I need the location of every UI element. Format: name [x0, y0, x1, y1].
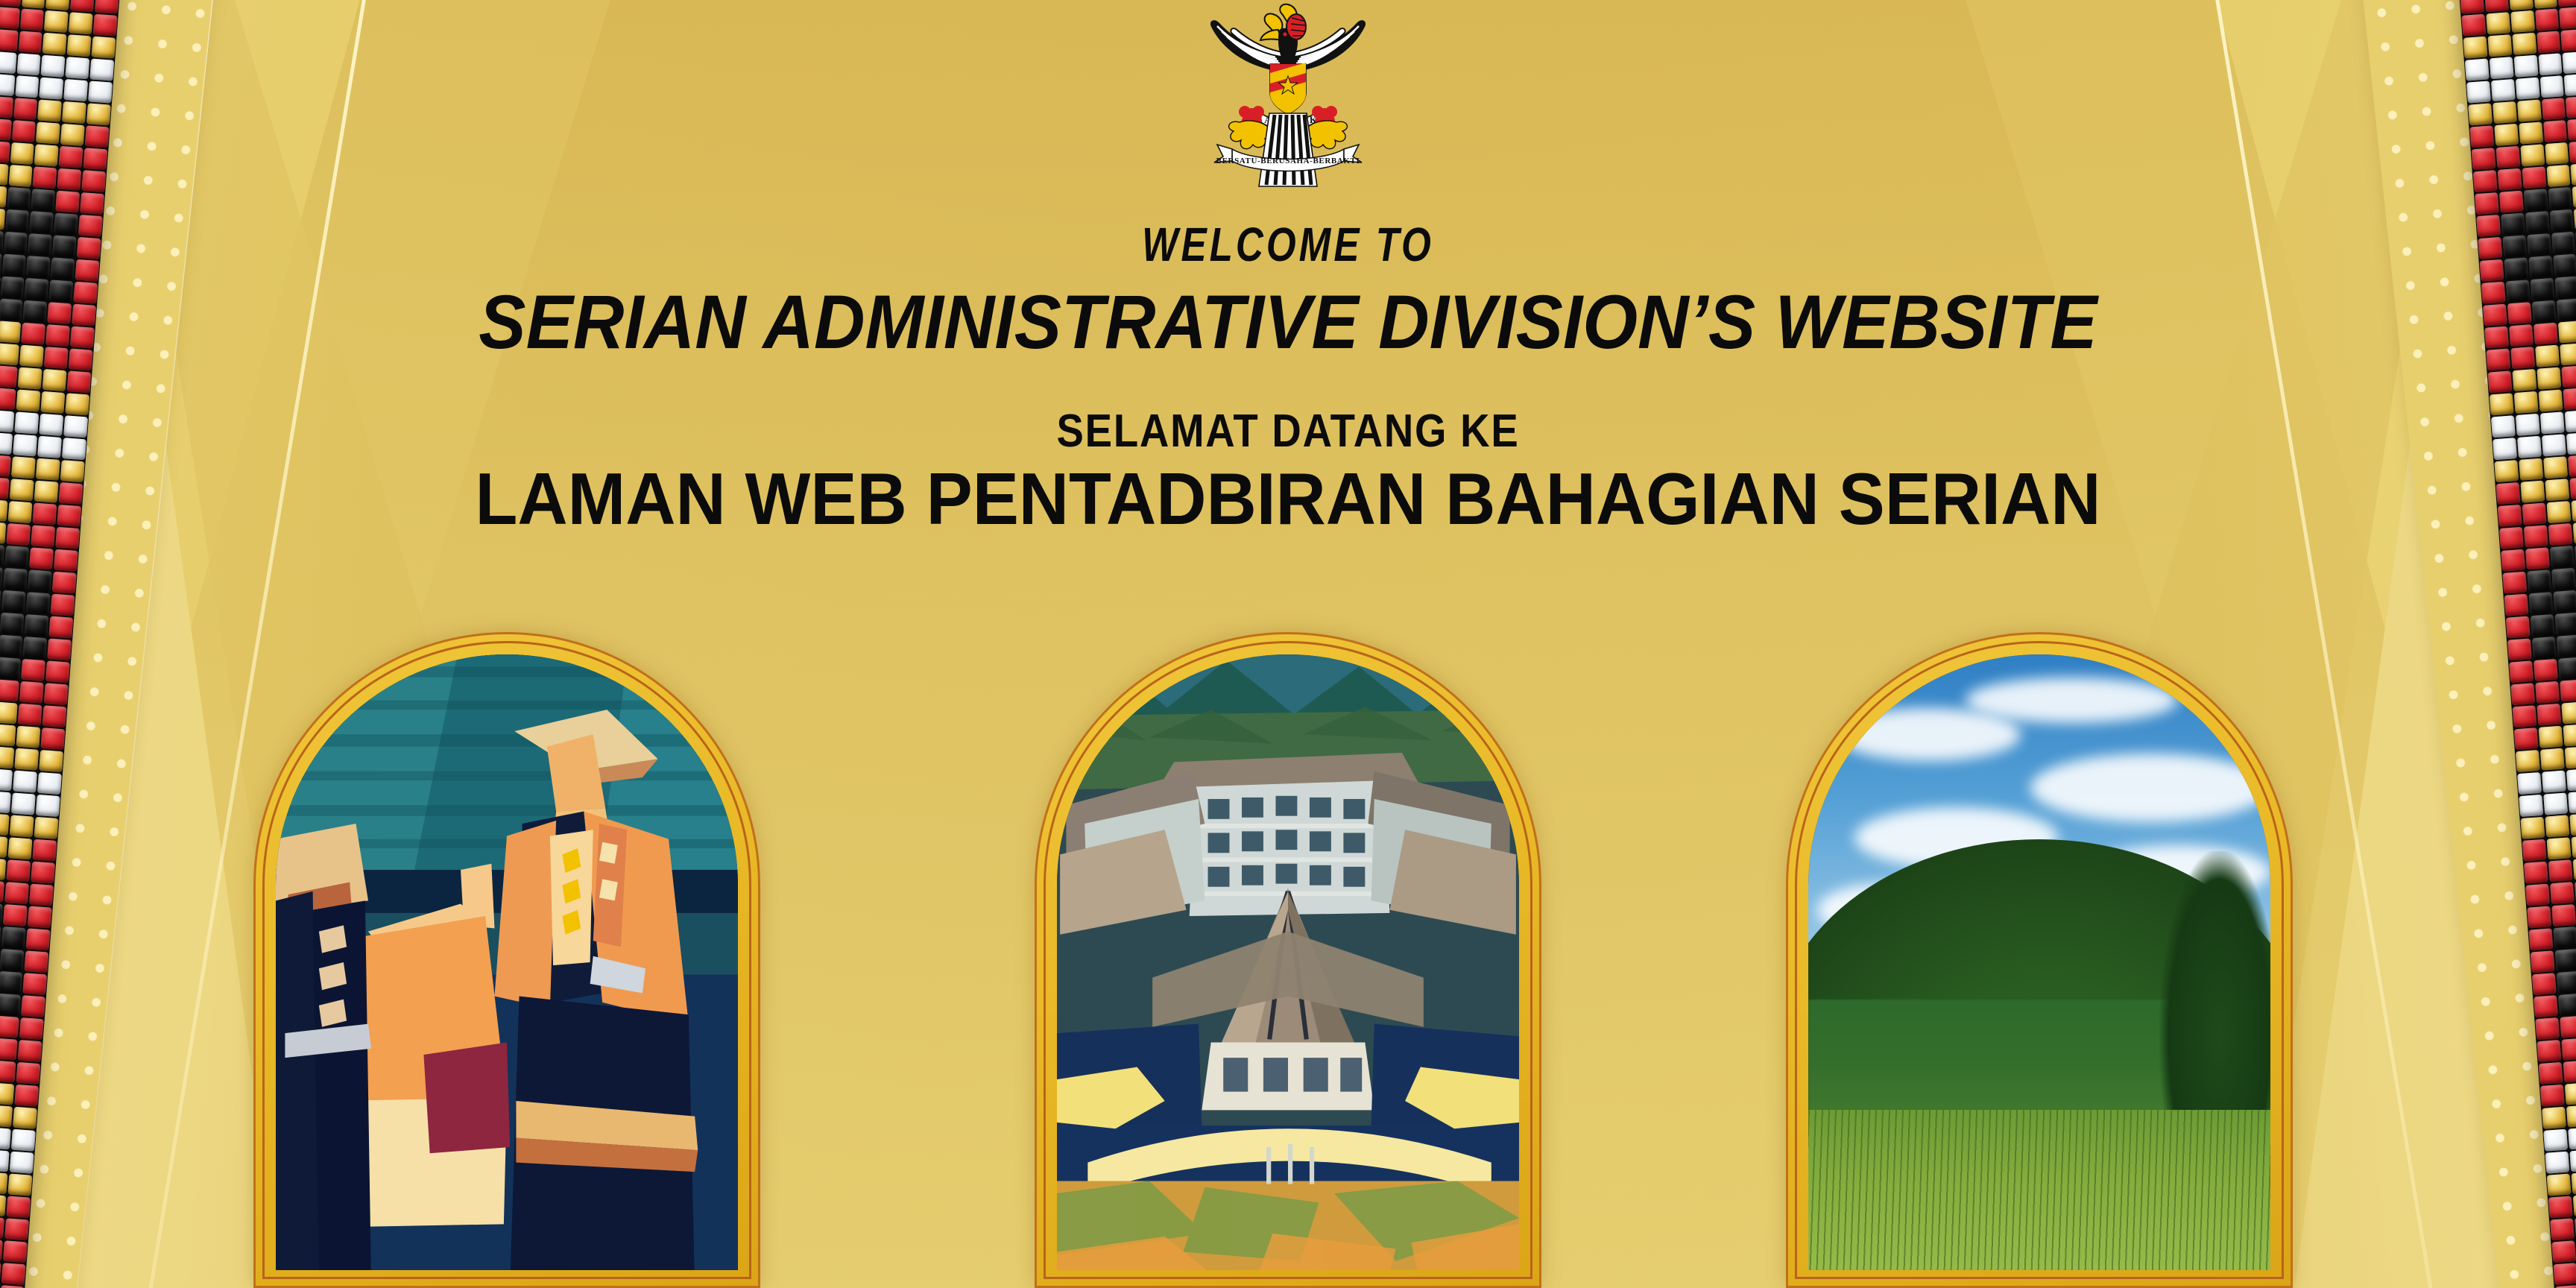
photo-frame-traditional-dancers[interactable] [253, 632, 760, 1288]
photo-frame-hill-landscape[interactable] [1786, 632, 2293, 1288]
photo-frame-row [0, 617, 2576, 1288]
grass-field [1808, 1110, 2270, 1270]
frame-photo-building [1057, 654, 1519, 1270]
frame-photo-landscape [1808, 654, 2270, 1270]
welcome-banner: SARAWAK [0, 0, 2576, 1288]
frame-photo-dancers [276, 654, 738, 1270]
page-title-malay: LAMAN WEB PENTADBIRAN BAHAGIAN SERIAN [64, 461, 2511, 538]
page-title-english: SERIAN ADMINISTRATIVE DIVISION’S WEBSITE [90, 282, 2486, 362]
headline-block: WELCOME TO SERIAN ADMINISTRATIVE DIVISIO… [0, 221, 2576, 538]
welcome-label: WELCOME TO [258, 221, 2319, 268]
sarawak-coat-of-arms-icon: SARAWAK [1165, 1, 1411, 225]
photo-frame-administrative-building[interactable] [1035, 632, 1541, 1288]
selamat-label: SELAMAT DATANG KE [154, 408, 2421, 455]
crest-motto-text: BERSATU-BERUSAHA-BERBAKTI [1216, 157, 1360, 165]
